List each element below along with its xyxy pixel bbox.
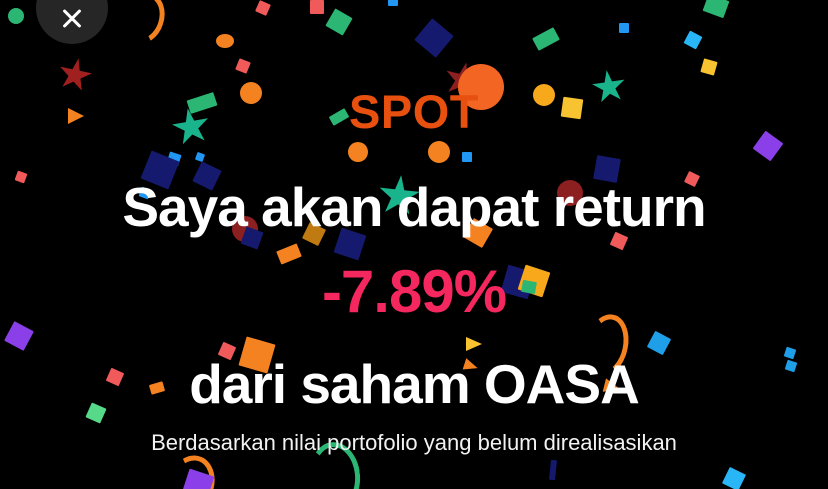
confetti-tri [462, 358, 479, 374]
confetti-rect [238, 336, 275, 373]
confetti-rect [255, 0, 271, 16]
confetti-rect [276, 243, 302, 264]
confetti-rect [4, 321, 34, 351]
confetti-rect [753, 131, 784, 162]
close-button[interactable] [36, 0, 108, 44]
confetti-rect [414, 18, 453, 57]
headline-secondary: dari saham OASA [0, 357, 828, 412]
confetti-rect [182, 469, 215, 489]
confetti-rect [784, 347, 797, 360]
confetti-rect [610, 232, 628, 250]
confetti-rect [684, 171, 700, 187]
confetti-rect [684, 31, 703, 50]
confetti-rect [15, 171, 28, 184]
confetti-circle [428, 141, 450, 163]
confetti-rect [334, 228, 367, 261]
confetti-ribbon [117, 0, 171, 49]
confetti-rect [235, 58, 251, 74]
confetti-rect [106, 368, 124, 386]
confetti-rect [647, 331, 671, 355]
confetti-rect [302, 222, 326, 246]
confetti-circle [240, 82, 262, 104]
confetti-ribbon [160, 449, 222, 489]
confetti-rect [240, 226, 263, 249]
confetti-rect [463, 218, 493, 248]
confetti-rect [329, 108, 350, 126]
confetti-circle [216, 34, 234, 48]
confetti-star [440, 58, 484, 102]
confetti-star [169, 105, 213, 149]
confetti-rect [619, 23, 629, 33]
confetti-rect [325, 8, 352, 35]
confetti-rect [195, 152, 205, 162]
confetti-rect [85, 402, 106, 423]
close-x-icon [60, 6, 84, 30]
confetti-tri [466, 337, 482, 351]
confetti-rect [149, 381, 165, 394]
share-card-screen: SPOT Saya akan dapat return -7.89% dari … [0, 0, 828, 489]
confetti-tri [603, 378, 622, 395]
confetti-star [55, 55, 95, 95]
confetti-rect [218, 342, 236, 360]
confetti-ribbon [580, 310, 634, 379]
confetti-rect [593, 155, 621, 183]
confetti-rect [700, 58, 717, 75]
confetti-rect [518, 265, 551, 298]
confetti-circle [232, 216, 258, 242]
confetti-star [376, 173, 422, 219]
caption-text: Berdasarkan nilai portofolio yang belum … [0, 430, 828, 456]
confetti-circle [458, 64, 504, 110]
confetti-circle [348, 142, 368, 162]
confetti-star [590, 68, 628, 106]
confetti-circle [557, 180, 583, 206]
confetti-rect [310, 0, 324, 14]
brand-wordmark: SPOT [0, 88, 828, 135]
share-card-content: SPOT Saya akan dapat return -7.89% dari … [0, 0, 828, 489]
confetti-rect [187, 92, 218, 114]
confetti-rect [521, 280, 537, 294]
confetti-rect [561, 97, 584, 120]
confetti-rect [785, 360, 798, 373]
confetti-tri [68, 108, 84, 124]
return-value: -7.89% [0, 262, 828, 322]
confetti-rect [532, 27, 560, 51]
confetti-rect [462, 152, 472, 162]
headline-primary: Saya akan dapat return [0, 180, 828, 235]
confetti-circle [533, 84, 555, 106]
confetti-rect [140, 150, 179, 189]
confetti-rect [139, 187, 152, 200]
confetti-rect [166, 151, 181, 166]
confetti-rect [388, 0, 398, 6]
confetti-rect [192, 161, 221, 190]
confetti-ribbon [307, 440, 364, 489]
confetti-rect [549, 460, 557, 481]
confetti-background [0, 0, 828, 489]
confetti-rect [501, 265, 536, 300]
confetti-rect [703, 0, 730, 18]
confetti-rect [722, 467, 746, 489]
confetti-circle [8, 8, 24, 24]
